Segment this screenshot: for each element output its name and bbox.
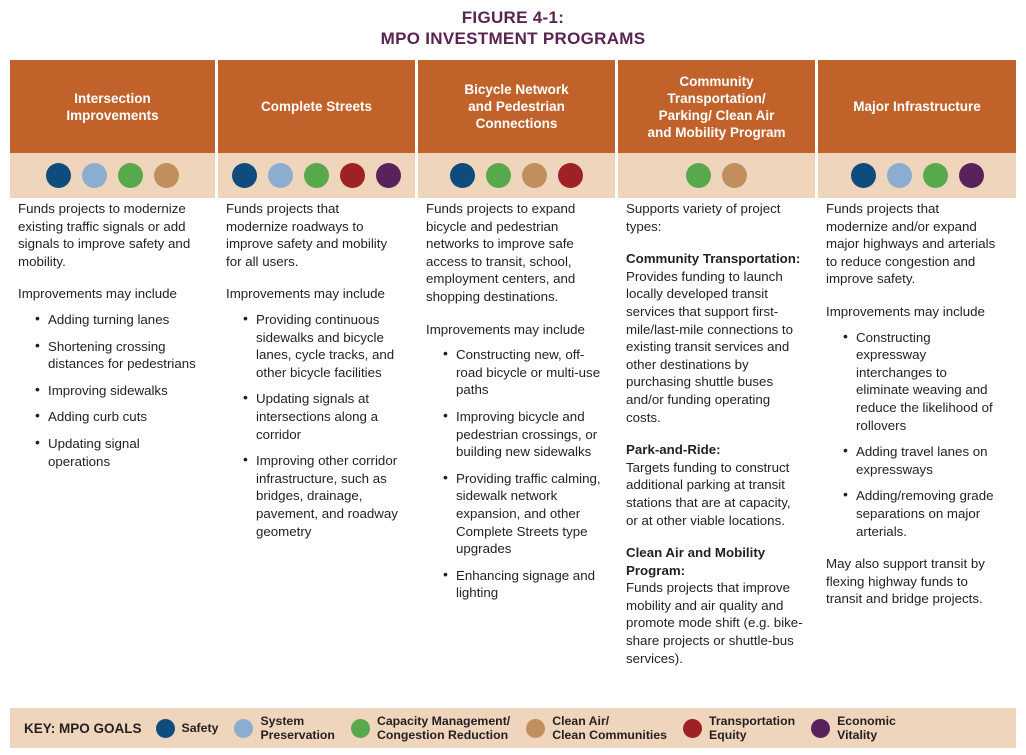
legend-title: KEY: MPO GOALS: [24, 721, 142, 736]
goal-dot-system-preservation-icon: [887, 163, 912, 188]
investment-programs-table: IntersectionImprovementsComplete Streets…: [10, 60, 1016, 198]
program-subsection-heading: Park-and-Ride:: [626, 441, 804, 459]
goal-dot-system-preservation-icon: [268, 163, 293, 188]
program-intro-text: Funds projects that modernize roadways t…: [226, 200, 404, 270]
goal-dot-clean-air-icon: [522, 163, 547, 188]
legend-items: SafetySystem PreservationCapacity Manage…: [156, 714, 912, 742]
program-subsection: Park-and-Ride:Targets funding to constru…: [626, 441, 804, 529]
legend-dot-capacity-management-icon: [351, 719, 370, 738]
legend-dot-clean-air-icon: [526, 719, 545, 738]
list-item: Adding turning lanes: [48, 311, 204, 329]
program-body-2: Funds projects to expand bicycle and ped…: [418, 200, 618, 682]
list-item: Constructing expressway interchanges to …: [856, 329, 1002, 435]
list-item: Updating signals at intersections along …: [256, 390, 404, 443]
list-item: Providing traffic calming, sidewalk netw…: [456, 470, 604, 558]
program-body-3: Supports variety of project types:Commun…: [618, 200, 818, 682]
program-header-1: Complete Streets: [218, 60, 418, 153]
legend-item-label: Economic Vitality: [837, 714, 896, 742]
list-item: Improving sidewalks: [48, 382, 204, 400]
program-header-3: CommunityTransportation/Parking/ Clean A…: [618, 60, 818, 153]
program-goal-dots-4: [818, 153, 1016, 198]
list-item: Improving other corridor infrastructure,…: [256, 452, 404, 540]
list-item: Constructing new, off-road bicycle or mu…: [456, 346, 604, 399]
legend-item-clean-air: Clean Air/ Clean Communities: [526, 714, 667, 742]
legend-item-capacity-management: Capacity Management/ Congestion Reductio…: [351, 714, 510, 742]
program-intro-text: Funds projects to expand bicycle and ped…: [426, 200, 604, 306]
list-item: Adding/removing grade separations on maj…: [856, 487, 1002, 540]
program-subsection: Clean Air and Mobility Program:Funds pro…: [626, 544, 804, 667]
program-subsection-text: Provides funding to launch locally devel…: [626, 269, 793, 425]
program-improvements-lead: Improvements may include: [426, 321, 604, 339]
legend-dot-transportation-equity-icon: [683, 719, 702, 738]
program-subsection-text: Funds projects that improve mobility and…: [626, 580, 803, 665]
list-item: Providing continuous sidewalks and bicyc…: [256, 311, 404, 381]
program-bullet-list: Constructing expressway interchanges to …: [826, 329, 1002, 541]
program-header-4: Major Infrastructure: [818, 60, 1016, 153]
program-intro-text: Funds projects to modernize existing tra…: [18, 200, 204, 270]
program-goal-dots-2: [418, 153, 618, 198]
program-body-0: Funds projects to modernize existing tra…: [10, 200, 218, 682]
goal-dot-capacity-management-icon: [923, 163, 948, 188]
figure-title-line-1: FIGURE 4-1:: [0, 7, 1026, 28]
program-header-label: Complete Streets: [224, 98, 409, 115]
goal-dot-economic-vitality-icon: [959, 163, 984, 188]
program-bullet-list: Providing continuous sidewalks and bicyc…: [226, 311, 404, 540]
list-item: Adding curb cuts: [48, 408, 204, 426]
legend-dot-system-preservation-icon: [234, 719, 253, 738]
program-header-label: Major Infrastructure: [824, 98, 1010, 115]
program-subsection-text: Targets funding to construct additional …: [626, 460, 791, 528]
goal-dot-system-preservation-icon: [82, 163, 107, 188]
goal-dot-clean-air-icon: [722, 163, 747, 188]
program-header-2: Bicycle Networkand PedestrianConnections: [418, 60, 618, 153]
legend-item-label: Transportation Equity: [709, 714, 795, 742]
legend-dot-economic-vitality-icon: [811, 719, 830, 738]
program-header-label: Bicycle Networkand PedestrianConnections: [424, 81, 609, 132]
goal-dot-transportation-equity-icon: [558, 163, 583, 188]
program-goal-dots-row: [10, 153, 1016, 198]
program-bullet-list: Constructing new, off-road bicycle or mu…: [426, 346, 604, 602]
program-goal-dots-1: [218, 153, 418, 198]
legend-item-label: Clean Air/ Clean Communities: [552, 714, 667, 742]
list-item: Enhancing signage and lighting: [456, 567, 604, 602]
program-header-0: IntersectionImprovements: [10, 60, 218, 153]
legend-bar: KEY: MPO GOALS SafetySystem Preservation…: [10, 708, 1016, 748]
program-improvements-lead: Improvements may include: [18, 285, 204, 303]
program-body-row: Funds projects to modernize existing tra…: [10, 200, 1016, 682]
list-item: Updating signal operations: [48, 435, 204, 470]
figure-title: FIGURE 4-1: MPO INVESTMENT PROGRAMS: [0, 0, 1026, 49]
goal-dot-transportation-equity-icon: [340, 163, 365, 188]
list-item: Improving bicycle and pedestrian crossin…: [456, 408, 604, 461]
goal-dot-capacity-management-icon: [304, 163, 329, 188]
goal-dot-capacity-management-icon: [486, 163, 511, 188]
list-item: Adding travel lanes on expressways: [856, 443, 1002, 478]
goal-dot-capacity-management-icon: [118, 163, 143, 188]
program-subsection: Community Transportation:Provides fundin…: [626, 250, 804, 426]
program-bullet-list: Adding turning lanesShortening crossing …: [18, 311, 204, 470]
legend-item-system-preservation: System Preservation: [234, 714, 335, 742]
program-header-label: CommunityTransportation/Parking/ Clean A…: [624, 73, 809, 141]
program-subsection-heading: Clean Air and Mobility Program:: [626, 544, 804, 579]
program-body-4: Funds projects that modernize and/or exp…: [818, 200, 1016, 682]
program-header-label: IntersectionImprovements: [16, 90, 209, 124]
legend-dot-safety-icon: [156, 719, 175, 738]
program-improvements-lead: Improvements may include: [226, 285, 404, 303]
program-subsection-heading: Community Transportation:: [626, 250, 804, 268]
program-goal-dots-0: [10, 153, 218, 198]
list-item: Shortening crossing distances for pedest…: [48, 338, 204, 373]
program-body-1: Funds projects that modernize roadways t…: [218, 200, 418, 682]
goal-dot-safety-icon: [46, 163, 71, 188]
goal-dot-capacity-management-icon: [686, 163, 711, 188]
figure-title-line-2: MPO INVESTMENT PROGRAMS: [0, 28, 1026, 49]
program-goal-dots-3: [618, 153, 818, 198]
goal-dot-safety-icon: [851, 163, 876, 188]
legend-item-safety: Safety: [156, 719, 219, 738]
program-improvements-lead: Improvements may include: [826, 303, 1002, 321]
program-header-row: IntersectionImprovementsComplete Streets…: [10, 60, 1016, 153]
program-intro-text: Funds projects that modernize and/or exp…: [826, 200, 1002, 288]
program-intro-text: Supports variety of project types:: [626, 200, 804, 235]
legend-item-economic-vitality: Economic Vitality: [811, 714, 896, 742]
goal-dot-economic-vitality-icon: [376, 163, 401, 188]
program-outro-text: May also support transit by flexing high…: [826, 555, 1002, 608]
legend-item-label: System Preservation: [260, 714, 335, 742]
goal-dot-safety-icon: [450, 163, 475, 188]
goal-dot-safety-icon: [232, 163, 257, 188]
goal-dot-clean-air-icon: [154, 163, 179, 188]
legend-item-transportation-equity: Transportation Equity: [683, 714, 795, 742]
legend-item-label: Safety: [182, 721, 219, 735]
legend-item-label: Capacity Management/ Congestion Reductio…: [377, 714, 510, 742]
